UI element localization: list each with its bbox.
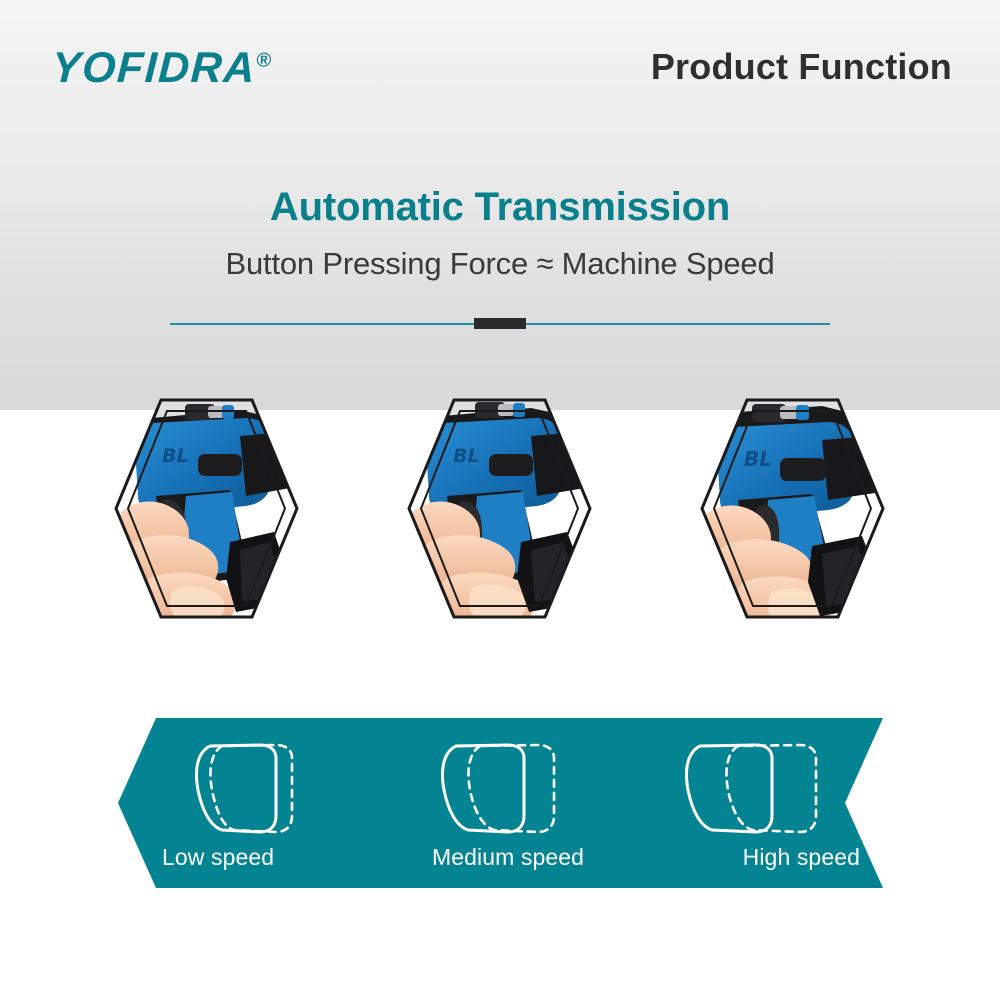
speed-item-high: High speed xyxy=(646,718,876,888)
hexagon-border xyxy=(383,392,616,625)
hexagon-photo-high: BL xyxy=(676,392,909,625)
page-title: Product Function xyxy=(651,46,952,88)
speed-banner-items: Low speed Medium speed xyxy=(118,718,883,888)
hero-subheadline: Button Pressing Force ≈ Machine Speed xyxy=(0,246,1000,282)
speed-item-low: Low speed xyxy=(140,718,370,888)
trigger-diagram-medium-icon xyxy=(393,738,623,840)
brand-logo-text: YOFIDRA xyxy=(51,44,258,92)
hexagon-border xyxy=(676,392,909,625)
speed-label-low: Low speed xyxy=(140,844,370,871)
registered-trademark-icon: ® xyxy=(256,50,272,72)
divider-knob xyxy=(474,318,526,329)
section-divider xyxy=(170,318,830,330)
speed-banner: Low speed Medium speed xyxy=(118,718,883,888)
hexagon-photo-medium: BL xyxy=(383,392,616,625)
hero-text-block: Automatic Transmission Button Pressing F… xyxy=(0,185,1000,282)
hexagon-photo-low: BL xyxy=(90,392,323,625)
page-header: YOFIDRA® Product Function xyxy=(0,0,1000,118)
speed-item-medium: Medium speed xyxy=(393,718,623,888)
product-function-infographic: YOFIDRA® Product Function Automatic Tran… xyxy=(0,0,1000,1000)
hexagon-photo-row: BL xyxy=(0,392,1000,627)
trigger-diagram-low-icon xyxy=(140,738,370,840)
speed-label-medium: Medium speed xyxy=(393,844,623,871)
brand-logo: YOFIDRA® xyxy=(51,44,272,93)
trigger-diagram-high-icon xyxy=(646,738,876,840)
speed-label-high: High speed xyxy=(646,844,876,871)
hero-headline: Automatic Transmission xyxy=(0,185,1000,229)
hexagon-border xyxy=(90,392,323,625)
